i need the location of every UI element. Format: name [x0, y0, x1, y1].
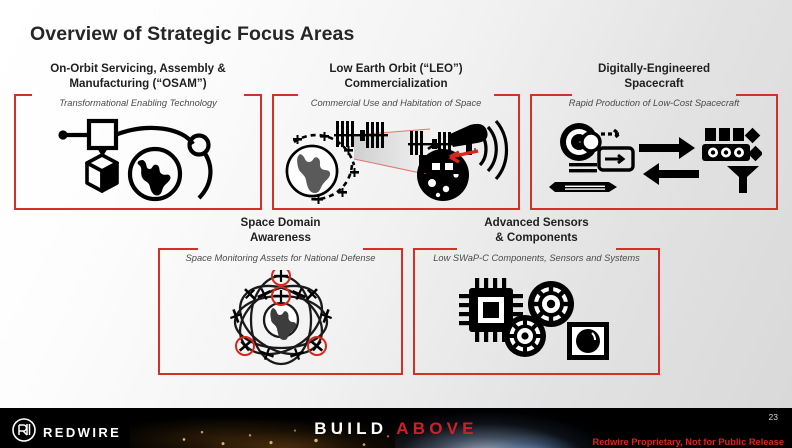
card-heading: Digitally-Engineered Spacecraft [598, 62, 710, 91]
focus-area-card-osam[interactable]: On-Orbit Servicing, Assembly & Manufactu… [14, 94, 262, 210]
card-subtitle: Rapid Production of Low-Cost Spacecraft [569, 98, 740, 108]
card-subtitle: Space Monitoring Assets for National Def… [186, 253, 376, 263]
microchip-gears-sensor-icon [413, 270, 660, 370]
slide-number: 23 [769, 412, 778, 422]
card-subtitle: Low SWaP-C Components, Sensors and Syste… [433, 253, 640, 263]
card-heading-line1: Low Earth Orbit (“LEO”) [329, 62, 462, 77]
space-station-lunar-base-icon [272, 112, 520, 206]
presentation-slide: Overview of Strategic Focus Areas On-Orb… [0, 0, 792, 448]
card-heading-line2: Spacecraft [598, 77, 710, 92]
card-heading-line1: On-Orbit Servicing, Assembly & [50, 62, 225, 77]
proprietary-notice: Redwire Proprietary, Not for Public Rele… [592, 437, 784, 447]
focus-area-card-advanced-sensors-components[interactable]: Advanced Sensors & Components Low SWaP-C… [413, 248, 660, 375]
redwire-wordmark: REDWIRE [43, 425, 121, 440]
earth-satellite-constellation-icon [158, 268, 403, 372]
focus-area-card-space-domain-awareness[interactable]: Space Domain Awareness Space Monitoring … [158, 248, 403, 375]
tagline-build-text: BUILD [314, 419, 387, 439]
design-to-production-icon [530, 116, 778, 204]
card-heading-line2: Awareness [241, 231, 321, 246]
card-subtitle: Transformational Enabling Technology [59, 98, 217, 108]
card-heading-line1: Space Domain [241, 216, 321, 231]
build-above-tagline: BUILD ABOVE [314, 419, 477, 439]
redwire-circular-logo-icon [12, 418, 36, 447]
card-heading-line2: Manufacturing (“OSAM”) [50, 77, 225, 92]
card-heading: Advanced Sensors & Components [484, 216, 588, 245]
card-heading-line2: Commercialization [329, 77, 462, 92]
footer-atmosphere-glow [470, 410, 600, 448]
tagline-above-text: ABOVE [396, 419, 477, 439]
card-heading-line1: Advanced Sensors [484, 216, 588, 231]
card-heading: Space Domain Awareness [241, 216, 321, 245]
slide-footer: REDWIRE BUILD ABOVE 23 Redwire Proprieta… [0, 408, 792, 448]
card-heading: On-Orbit Servicing, Assembly & Manufactu… [50, 62, 225, 91]
3d-printer-earth-orbit-icon [14, 114, 262, 206]
card-heading-line2: & Components [484, 231, 588, 246]
redwire-logo[interactable]: REDWIRE [12, 418, 121, 447]
card-subtitle: Commercial Use and Habitation of Space [311, 98, 482, 108]
focus-area-card-digitally-engineered-spacecraft[interactable]: Digitally-Engineered Spacecraft Rapid Pr… [530, 94, 778, 210]
page-title: Overview of Strategic Focus Areas [30, 23, 354, 46]
card-heading: Low Earth Orbit (“LEO”) Commercializatio… [329, 62, 462, 91]
focus-area-card-leo[interactable]: Low Earth Orbit (“LEO”) Commercializatio… [272, 94, 520, 210]
card-heading-line1: Digitally-Engineered [598, 62, 710, 77]
